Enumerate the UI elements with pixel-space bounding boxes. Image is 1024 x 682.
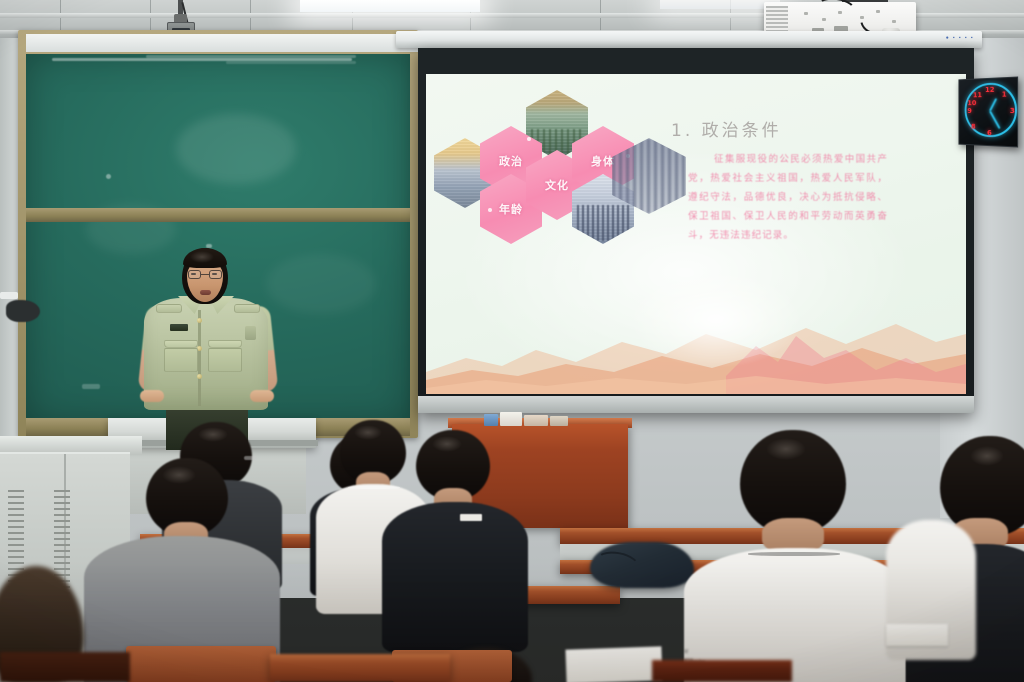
lectern-item-eraser	[524, 415, 548, 426]
instructor-shirt-button-1	[197, 318, 202, 323]
instructor-pocket-flap-right	[208, 340, 242, 348]
student-hair-highlight	[970, 446, 1004, 466]
wall-clock: 12 3 6 9 11 1 8 10	[958, 76, 1018, 147]
ceiling-light-fixture	[300, 0, 480, 12]
ceiling-light-fixture-2	[660, 0, 780, 9]
lectern-item-blue-chalk-box	[484, 414, 498, 426]
student-collar-tag	[460, 514, 482, 521]
board-clip	[6, 300, 40, 322]
instructor-pocket-flap-left	[164, 340, 198, 348]
lectern-item-chalk-box	[550, 416, 568, 426]
clock-number-3: 3	[1010, 107, 1015, 115]
student-hair-highlight	[162, 466, 196, 484]
desk-surface-front-center	[270, 654, 450, 682]
hex-label-culture: 文化	[545, 177, 569, 193]
instructor-hand-right	[250, 390, 274, 402]
instructor-name-badge	[170, 324, 188, 331]
hex-label-body: 身体	[591, 153, 615, 169]
student-eyeglass-temple	[244, 456, 256, 460]
clock-number-8: 8	[971, 123, 976, 131]
instructor-hand-left	[140, 390, 164, 402]
desk-paper-right	[886, 624, 948, 646]
slide-canvas: 政治 年龄 文化 身体 1. 政治条件 征集服现役的公民	[426, 74, 966, 394]
instructor-pocket-left	[164, 348, 198, 372]
clock-number-11: 11	[973, 91, 982, 99]
instructor	[138, 248, 278, 448]
instructor-shirt-placket	[198, 310, 201, 406]
slide-heading: 1. 政治条件	[671, 116, 782, 141]
student-torso	[382, 502, 528, 652]
classroom-photo: ● ▪ ▪ ▪ ▪ 政治	[0, 0, 1024, 682]
student-hair-highlight	[354, 425, 382, 440]
clock-number-10: 10	[967, 99, 976, 107]
projection-screen-bottom-bar	[418, 396, 974, 413]
desk-surface-front-left	[0, 652, 130, 682]
student-hair-highlight	[432, 436, 462, 452]
chair-back-left	[126, 646, 276, 682]
instructor-hair-highlight	[190, 251, 214, 263]
student-hair-highlight	[198, 427, 228, 442]
wall-left-pillar	[0, 38, 18, 458]
clock-number-1: 1	[1002, 90, 1007, 98]
instructor-eyeglasses	[188, 270, 222, 279]
clock-number-6: 6	[987, 129, 992, 137]
student-hair-highlight	[766, 438, 806, 460]
projection-screen: 政治 年龄 文化 身体 1. 政治条件 征集服现役的公民	[418, 48, 974, 413]
slide-hotspot-glare	[631, 272, 801, 367]
clock-number-12: 12	[985, 86, 994, 94]
chalkboard-middle-seam	[26, 208, 410, 222]
desk-front-edge	[652, 660, 792, 682]
instructor-pocket-right	[208, 348, 242, 372]
instructor-shirt-button-3	[197, 374, 202, 379]
instructor-mouth	[200, 290, 211, 295]
lectern-item-white-box	[500, 412, 522, 426]
screen-brand-label: ● ▪ ▪ ▪ ▪	[946, 35, 974, 41]
clock-number-9: 9	[967, 107, 971, 115]
chalkboard-top-rail	[26, 34, 418, 52]
hex-label-politics: 政治	[499, 153, 523, 169]
slide-mountain-decoration	[426, 284, 966, 394]
board-clip-arm	[0, 292, 18, 299]
instructor-epaulet-right	[234, 304, 260, 313]
desk-paper-center	[565, 646, 662, 682]
projection-screen-housing: ● ▪ ▪ ▪ ▪	[396, 31, 982, 48]
slide-body-text: 征集服现役的公民必须热爱中国共产党，热爱社会主义祖国，热爱人民军队，遵纪守法，品…	[688, 150, 888, 245]
instructor-epaulet-left	[156, 304, 182, 313]
hex-label-age: 年龄	[499, 201, 523, 217]
student-collar	[348, 486, 400, 489]
student-collar	[748, 552, 840, 556]
instructor-shoulder-patch	[245, 326, 256, 340]
